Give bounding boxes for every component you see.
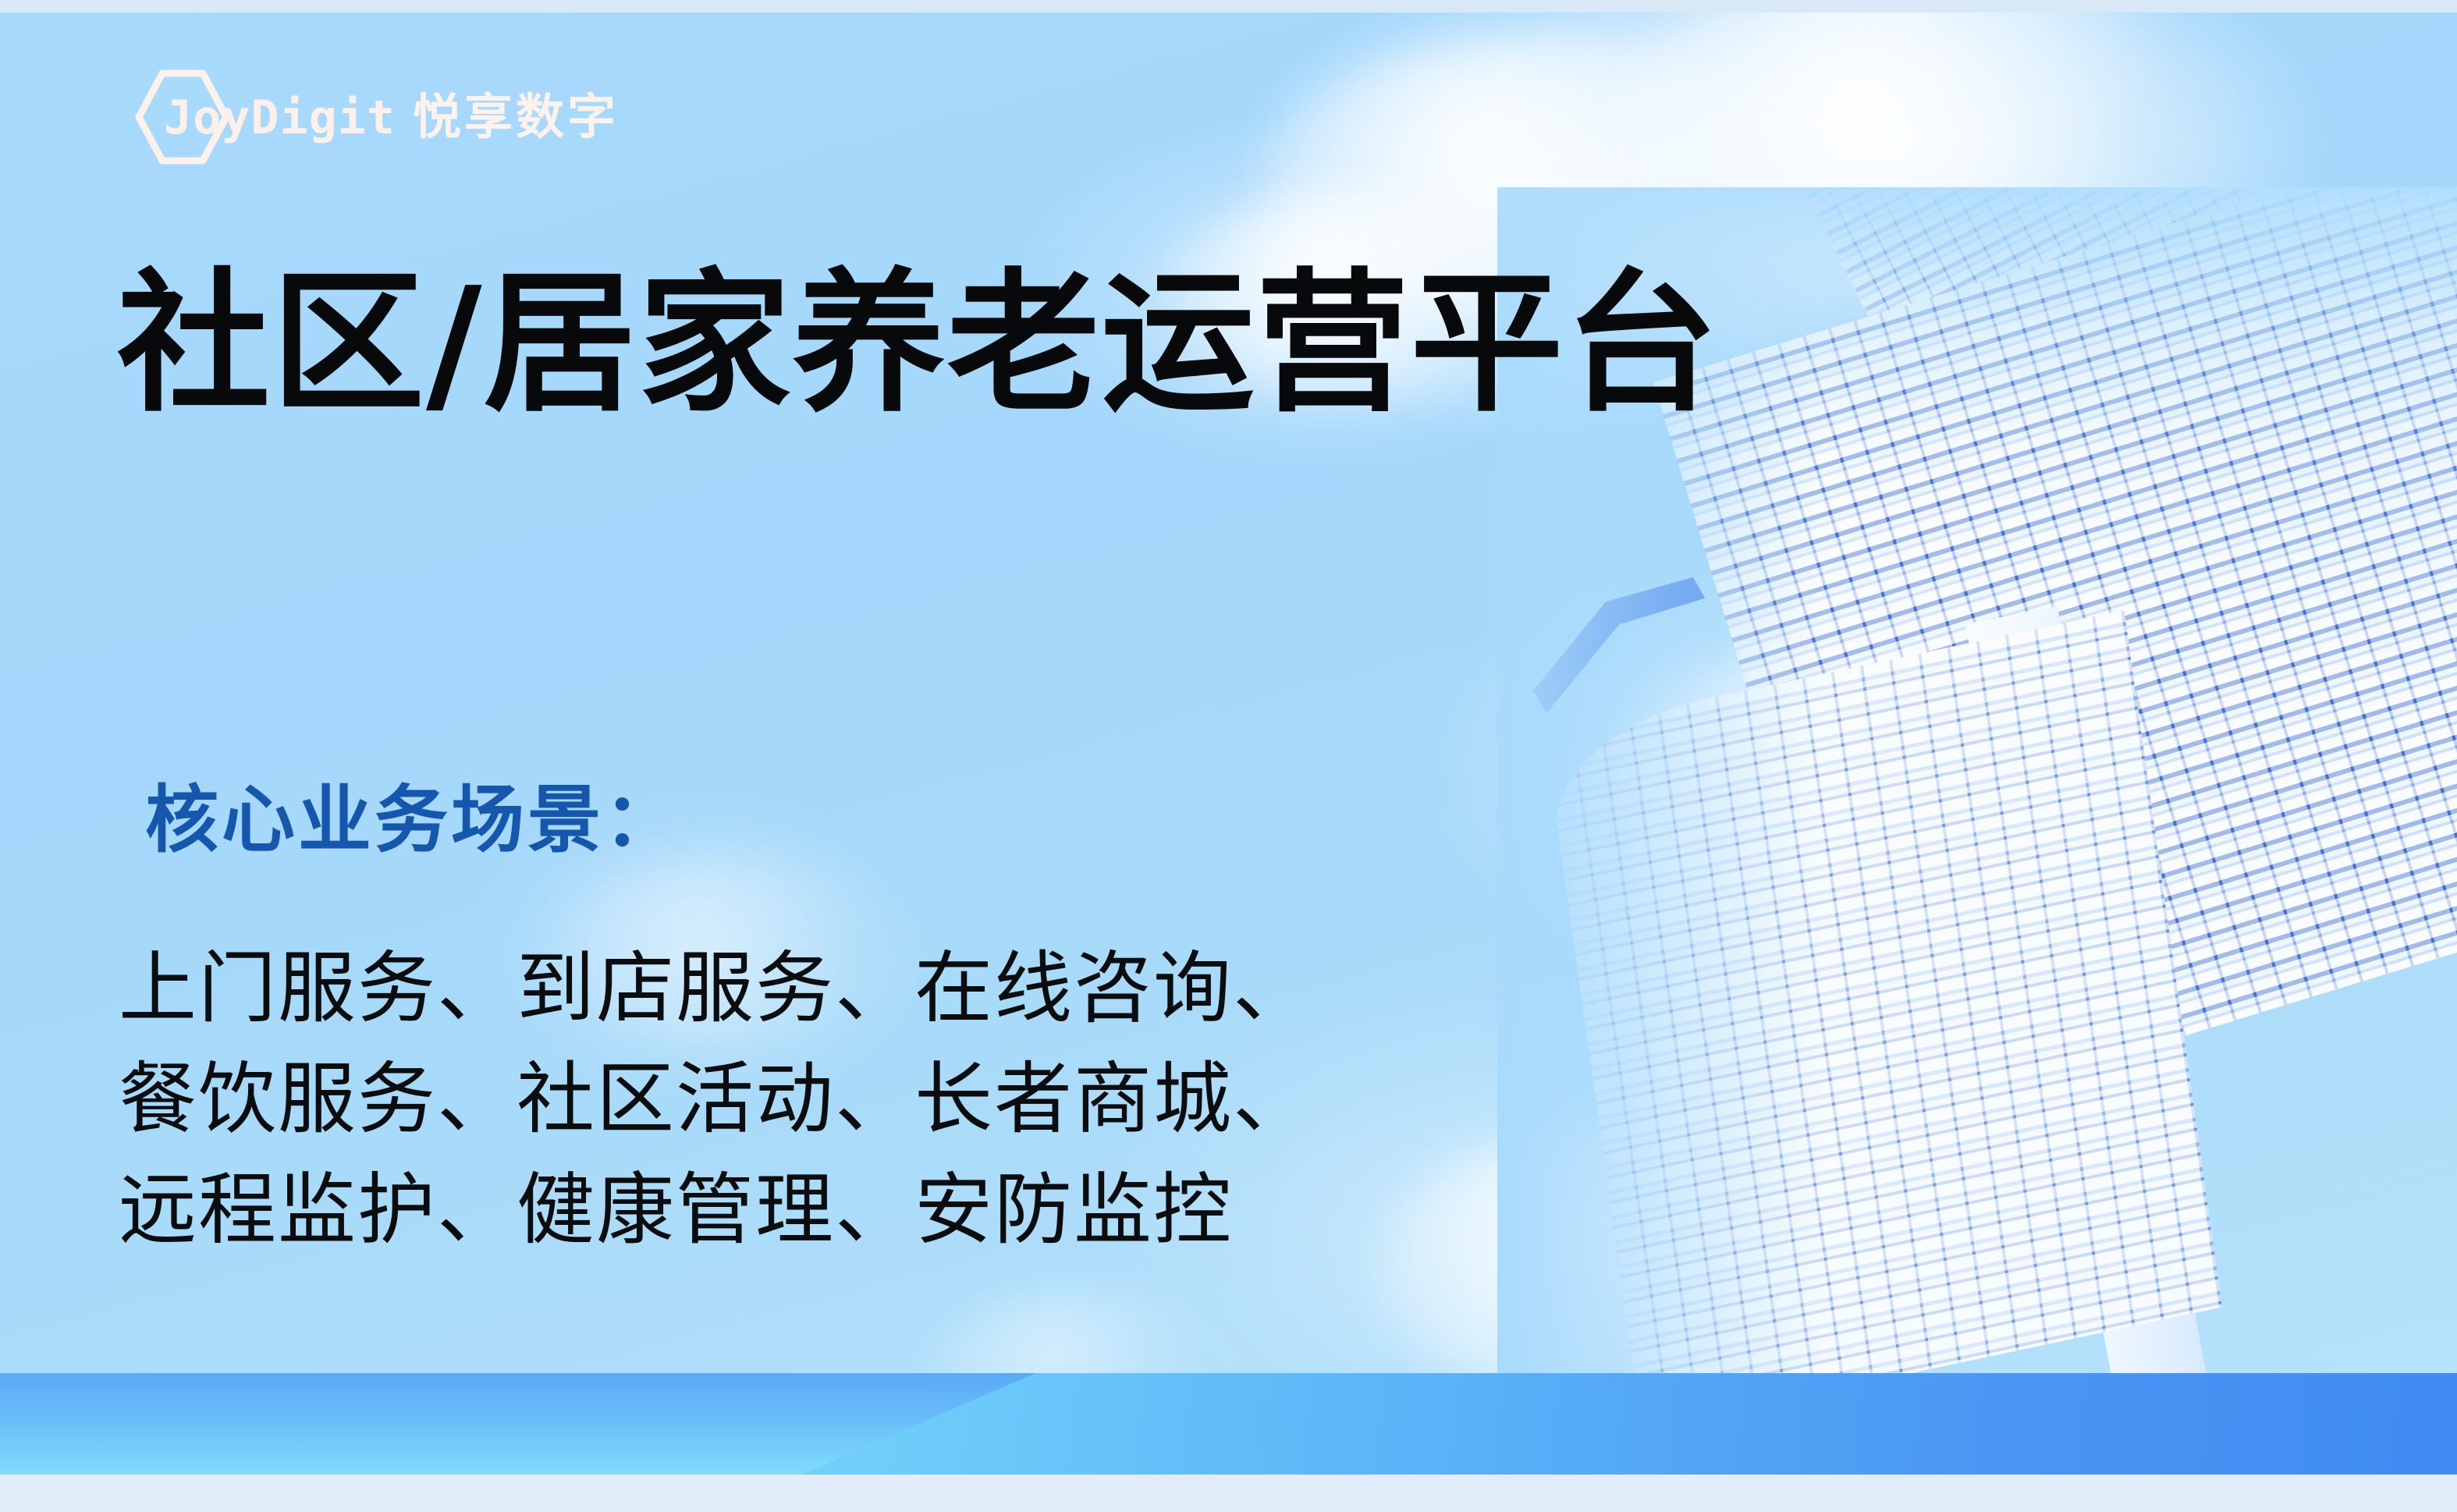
scenario-line: 餐饮服务、社区活动、长者商城、: [119, 1044, 1312, 1155]
slide-root: JoyDigit 悦享数字 社区/居家养老运营平台 核心业务场景： 上门服务、到…: [0, 0, 2457, 1512]
section-heading: 核心业务场景：: [145, 780, 680, 861]
band-right-shape: [765, 1373, 2457, 1475]
brand-name-en: JoyDigit: [164, 94, 396, 141]
cloud-puff: [921, 1292, 1248, 1373]
cloud-puff: [1607, 12, 2247, 293]
cloud-puff: [1373, 1120, 1919, 1373]
scenario-list: 上门服务、到店服务、在线咨询、 餐饮服务、社区活动、长者商城、 远程监护、健康管…: [119, 933, 1312, 1265]
bottom-decorative-band: [0, 1373, 2457, 1512]
cloud-puff: [1592, 652, 2029, 902]
brand-name-cn: 悦享数字: [413, 93, 619, 141]
brand-wordmark: JoyDigit 悦享数字: [164, 93, 619, 141]
scenario-line: 远程监护、健康管理、安防监控: [119, 1155, 1312, 1265]
brand-logo[interactable]: JoyDigit 悦享数字: [134, 69, 619, 165]
top-edge-strip: [0, 0, 2457, 12]
scenario-line: 上门服务、到店服务、在线咨询、: [119, 933, 1312, 1044]
page-title: 社区/居家养老运营平台: [117, 264, 1720, 426]
